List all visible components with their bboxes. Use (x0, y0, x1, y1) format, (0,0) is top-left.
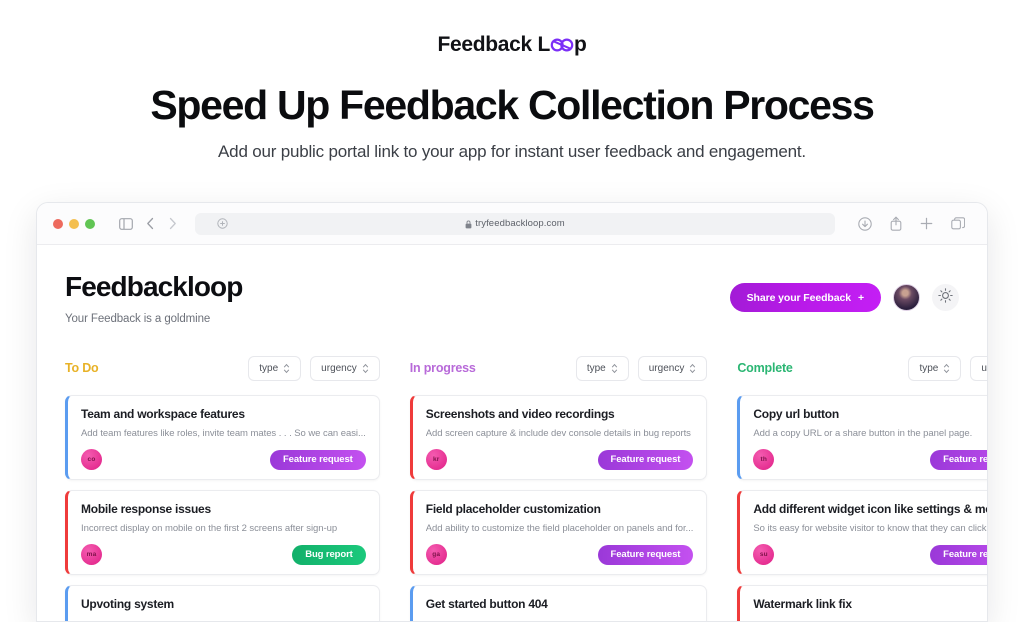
feedback-card[interactable]: Team and workspace features Add team fea… (65, 395, 380, 480)
card-badge: Feature request (270, 450, 366, 470)
feedback-card[interactable]: Mobile response issues Incorrect display… (65, 490, 380, 575)
column-filters: type urgency (908, 356, 988, 381)
card-description: Add screen capture & include dev console… (426, 428, 694, 439)
filter-urgency-label: urgency (321, 363, 357, 374)
browser-chrome: tryfeedbackloop.com (37, 203, 987, 245)
chevron-updown-icon (283, 363, 290, 374)
card-title: Team and workspace features (81, 407, 366, 421)
card-footer: th Feature request (753, 449, 988, 470)
download-icon[interactable] (858, 217, 872, 231)
board-column-todo: To Do type urgency Team and (65, 355, 380, 622)
chevron-updown-icon (943, 363, 950, 374)
back-icon[interactable] (146, 217, 155, 230)
card-badge: Feature request (598, 545, 694, 565)
feedback-card[interactable]: Field placeholder customization Add abil… (410, 490, 708, 575)
card-avatar: co (81, 449, 102, 470)
address-bar-text: tryfeedbackloop.com (195, 218, 835, 229)
card-badge: Feature request (930, 545, 988, 565)
filter-urgency-in-progress[interactable]: urgency (638, 356, 708, 381)
browser-nav-icons (119, 217, 177, 230)
filter-type-label: type (587, 363, 606, 374)
filter-type-todo[interactable]: type (248, 356, 301, 381)
extension-plus-icon[interactable] (217, 218, 228, 229)
page-subheadline: Add our public portal link to your app f… (0, 142, 1024, 162)
traffic-lights (53, 219, 95, 229)
column-title-complete: Complete (737, 361, 792, 375)
card-title: Screenshots and video recordings (426, 407, 694, 421)
plus-icon: + (858, 292, 864, 304)
card-title: Upvoting system (81, 597, 366, 611)
card-title: Field placeholder customization (426, 502, 694, 516)
card-badge: Bug report (292, 545, 366, 565)
feedback-card[interactable]: Copy url button Add a copy URL or a shar… (737, 395, 988, 480)
feedback-card[interactable]: Upvoting system (65, 585, 380, 622)
card-description: Add a copy URL or a share button in the … (753, 428, 988, 439)
card-avatar: th (753, 449, 774, 470)
sidebar-icon[interactable] (119, 218, 133, 230)
card-description: Add team features like roles, invite tea… (81, 428, 366, 439)
feedback-portal: Feedbackloop Your Feedback is a goldmine… (37, 245, 987, 622)
card-avatar: ga (426, 544, 447, 565)
new-tab-icon[interactable] (920, 217, 933, 230)
card-title: Get started button 404 (426, 597, 694, 611)
card-description: Incorrect display on mobile on the first… (81, 523, 366, 534)
brand-text-before: Feedback L (437, 33, 550, 56)
chevron-updown-icon (611, 363, 618, 374)
card-avatar: ma (81, 544, 102, 565)
card-list: Copy url button Add a copy URL or a shar… (737, 395, 988, 622)
card-badge: Feature request (598, 450, 694, 470)
card-footer: su Feature request (753, 544, 988, 565)
forward-icon[interactable] (168, 217, 177, 230)
share-icon[interactable] (890, 216, 902, 231)
tab-overview-icon[interactable] (951, 217, 965, 231)
browser-window: tryfeedbackloop.com Feedbackloop Your Fe… (36, 202, 988, 622)
brand-wordmark: Feedback Lp (0, 0, 1024, 57)
board-column-complete: Complete type urgency Copy (737, 355, 988, 622)
card-description: Add ability to customize the field place… (426, 523, 694, 534)
filter-type-in-progress[interactable]: type (576, 356, 629, 381)
feedback-board: To Do type urgency Team and (65, 355, 959, 622)
filter-urgency-label: urgency (649, 363, 685, 374)
card-title: Add different widget icon like settings … (753, 502, 988, 516)
chevron-updown-icon (689, 363, 696, 374)
card-title: Mobile response issues (81, 502, 366, 516)
column-title-in-progress: In progress (410, 361, 476, 375)
card-avatar: kr (426, 449, 447, 470)
address-bar[interactable]: tryfeedbackloop.com (195, 213, 835, 235)
card-footer: kr Feature request (426, 449, 694, 470)
feedback-card[interactable]: Get started button 404 (410, 585, 708, 622)
card-footer: ga Feature request (426, 544, 694, 565)
card-title: Watermark link fix (753, 597, 988, 611)
brand-text-after: p (574, 33, 587, 56)
column-header: To Do type urgency (65, 355, 380, 381)
column-filters: type urgency (576, 356, 707, 381)
card-badge: Feature request (930, 450, 988, 470)
portal-header-actions: Share your Feedback + (730, 271, 959, 312)
filter-urgency-complete[interactable]: urgency (970, 356, 988, 381)
theme-toggle-button[interactable] (932, 284, 959, 311)
card-footer: co Feature request (81, 449, 366, 470)
card-footer: ma Bug report (81, 544, 366, 565)
portal-header: Feedbackloop Your Feedback is a goldmine… (65, 271, 959, 325)
zoom-window-button[interactable] (85, 219, 95, 229)
close-window-button[interactable] (53, 219, 63, 229)
column-header: In progress type urgency (410, 355, 708, 381)
sun-icon (938, 288, 953, 308)
chevron-updown-icon (362, 363, 369, 374)
card-list: Team and workspace features Add team fea… (65, 395, 380, 622)
portal-title: Feedbackloop (65, 271, 242, 303)
feedback-card[interactable]: Screenshots and video recordings Add scr… (410, 395, 708, 480)
filter-urgency-label: urgency (981, 363, 988, 374)
browser-toolbar-icons (858, 216, 971, 231)
url-hostname: tryfeedbackloop.com (475, 218, 565, 229)
avatar[interactable] (893, 284, 920, 311)
column-header: Complete type urgency (737, 355, 988, 381)
infinity-loop-icon (549, 35, 575, 55)
board-column-in-progress: In progress type urgency Sc (410, 355, 708, 622)
column-filters: type urgency (248, 356, 379, 381)
column-title-todo: To Do (65, 361, 98, 375)
filter-type-complete[interactable]: type (908, 356, 961, 381)
page-headline: Speed Up Feedback Collection Process (0, 83, 1024, 127)
card-description: So its easy for website visitor to know … (753, 523, 988, 534)
lock-icon (465, 220, 471, 228)
card-avatar: su (753, 544, 774, 565)
minimize-window-button[interactable] (69, 219, 79, 229)
card-title: Copy url button (753, 407, 988, 421)
filter-type-label: type (259, 363, 278, 374)
feedback-card[interactable]: Watermark link fix (737, 585, 988, 622)
card-list: Screenshots and video recordings Add scr… (410, 395, 708, 622)
portal-subtitle: Your Feedback is a goldmine (65, 313, 242, 325)
feedback-card[interactable]: Add different widget icon like settings … (737, 490, 988, 575)
share-your-feedback-button[interactable]: Share your Feedback + (730, 283, 881, 312)
share-button-label: Share your Feedback (747, 292, 851, 304)
filter-urgency-todo[interactable]: urgency (310, 356, 380, 381)
filter-type-label: type (919, 363, 938, 374)
